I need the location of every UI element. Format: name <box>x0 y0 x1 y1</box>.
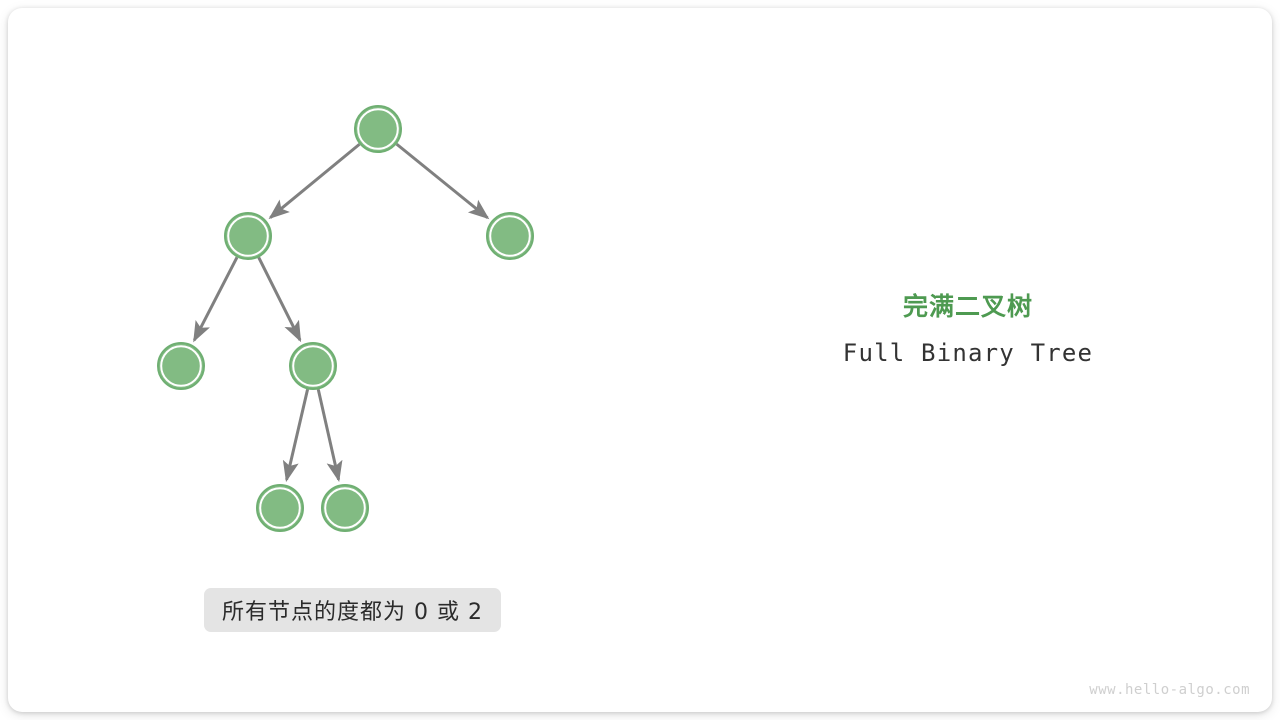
tree-edge <box>259 257 300 340</box>
tree-edge <box>318 389 338 479</box>
node-inner-ring <box>260 488 300 528</box>
node-inner-ring <box>228 216 268 256</box>
node-inner-ring <box>358 109 398 149</box>
tree-node-n5[interactable] <box>257 485 303 531</box>
tree-edge <box>287 389 308 479</box>
diagram-canvas: 完满二叉树 Full Binary Tree 所有节点的度都为 0 或 2 ww… <box>0 0 1280 720</box>
legend-block: 完满二叉树 Full Binary Tree <box>768 290 1168 368</box>
tree-edges <box>194 144 487 480</box>
tree-node-n3[interactable] <box>158 343 204 389</box>
tree-node-n1[interactable] <box>225 213 271 259</box>
tree-nodes <box>158 106 533 531</box>
tree-edge <box>194 257 237 340</box>
node-inner-ring <box>325 488 365 528</box>
node-inner-ring <box>161 346 201 386</box>
tree-edge <box>270 144 359 217</box>
node-inner-ring <box>293 346 333 386</box>
tree-edge <box>397 144 488 218</box>
tree-node-n2[interactable] <box>487 213 533 259</box>
caption-badge: 所有节点的度都为 0 或 2 <box>204 588 501 632</box>
tree-node-n4[interactable] <box>290 343 336 389</box>
node-inner-ring <box>490 216 530 256</box>
diagram-card: 完满二叉树 Full Binary Tree 所有节点的度都为 0 或 2 ww… <box>8 8 1272 712</box>
diagram-subtitle: Full Binary Tree <box>768 338 1168 368</box>
diagram-title: 完满二叉树 <box>768 290 1168 324</box>
tree-node-n0[interactable] <box>355 106 401 152</box>
tree-node-n6[interactable] <box>322 485 368 531</box>
watermark-label: www.hello-algo.com <box>1089 682 1250 698</box>
